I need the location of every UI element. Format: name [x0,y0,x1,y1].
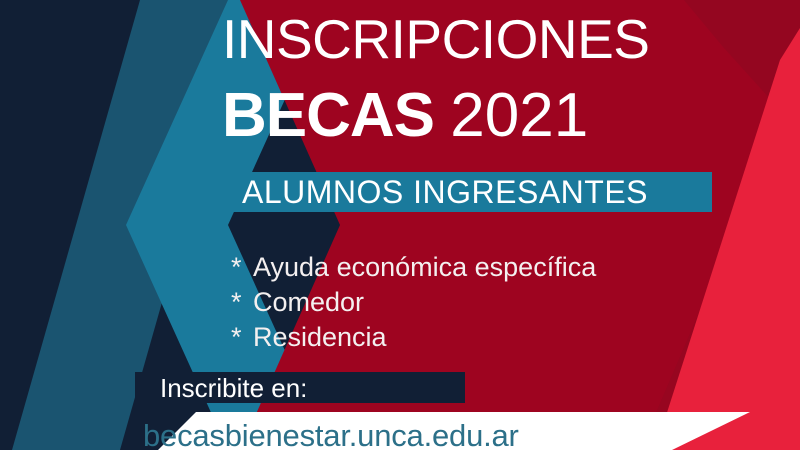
bullet-star-icon: * [231,250,253,285]
headline-year: 2021 [450,81,588,150]
list-item: *Residencia [231,320,751,355]
cta-label: Inscribite en: [160,373,307,403]
promo-poster: INSCRIPCIONES BECAS 2021 ALUMNOS INGRESA… [0,0,800,450]
headline-becas-year: BECAS 2021 [222,82,782,150]
bullet-star-icon: * [231,285,253,320]
benefit-label: Residencia [253,322,387,352]
bullet-star-icon: * [231,320,253,355]
headline-inscripciones: INSCRIPCIONES [222,8,782,70]
list-item: *Comedor [231,285,751,320]
benefits-list: *Ayuda económica específica *Comedor *Re… [231,250,751,355]
list-item: *Ayuda económica específica [231,250,751,285]
benefit-label: Ayuda económica específica [253,252,596,282]
audience-label: ALUMNOS INGRESANTES [242,174,762,210]
headline-becas: BECAS [222,81,434,150]
registration-url[interactable]: becasbienestar.unca.edu.ar [143,418,519,450]
benefit-label: Comedor [253,287,364,317]
